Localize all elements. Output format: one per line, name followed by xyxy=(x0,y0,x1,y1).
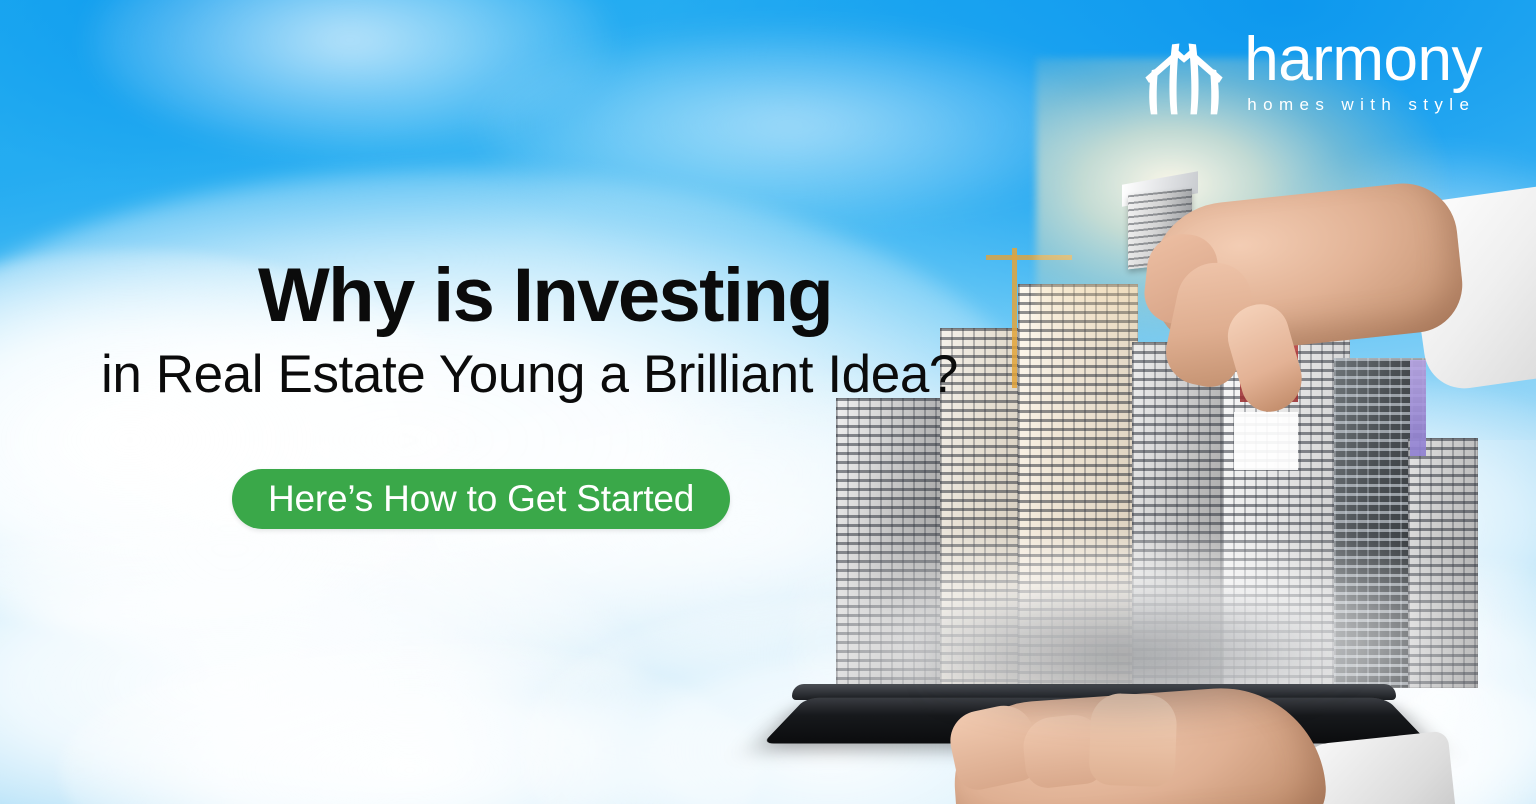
construction-crane-arm xyxy=(986,255,1072,260)
construction-crane-icon xyxy=(1012,248,1017,388)
headline-line-2: in Real Estate Young a Brilliant Idea? xyxy=(101,348,958,401)
finger xyxy=(1088,693,1177,788)
brand-logo[interactable]: harmony homes with style xyxy=(1138,26,1482,118)
hero-imagery xyxy=(776,184,1536,804)
harmony-house-logo-icon xyxy=(1138,26,1230,118)
tower xyxy=(1408,438,1478,688)
get-started-button[interactable]: Here’s How to Get Started xyxy=(232,469,730,529)
hand-holding-tablet-icon xyxy=(894,644,1414,804)
brand-tagline: homes with style xyxy=(1244,96,1482,113)
promo-banner: harmony homes with style Why is Investin… xyxy=(0,0,1536,804)
logo-wordmark: harmony homes with style xyxy=(1244,31,1482,114)
brand-name: harmony xyxy=(1244,31,1482,90)
headline-line-1: Why is Investing xyxy=(258,258,832,334)
hand-placing-block-icon xyxy=(1076,176,1536,436)
